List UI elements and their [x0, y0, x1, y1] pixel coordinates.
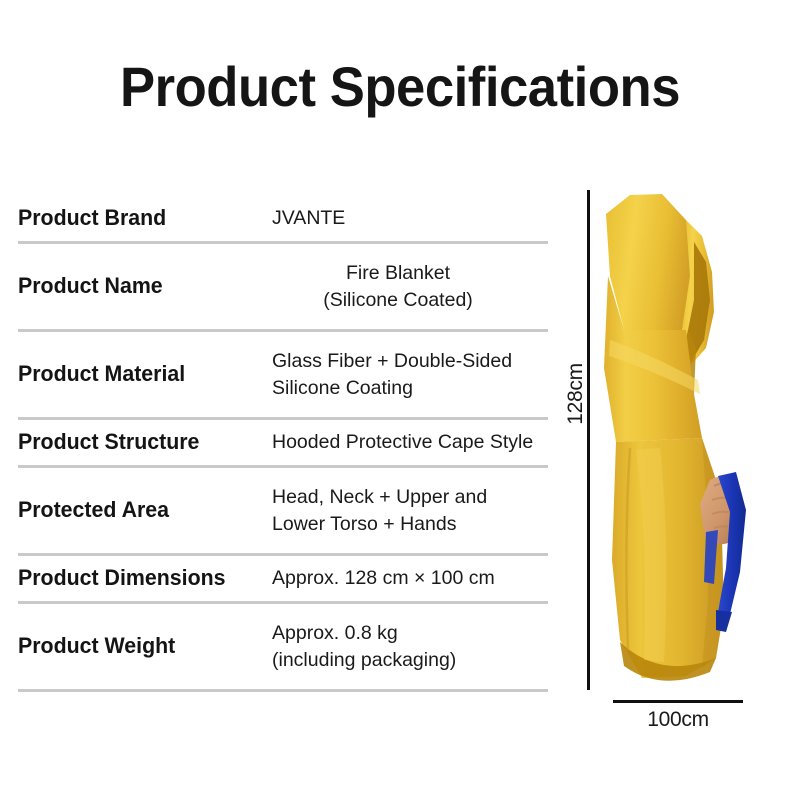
table-row: Product Brand JVANTE [18, 196, 548, 244]
spec-value: Glass Fiber + Double-SidedSilicone Coati… [270, 348, 548, 401]
width-dimension-line [613, 700, 743, 703]
spec-label: Product Dimensions [18, 565, 262, 592]
fire-blanket-cape-photo [590, 180, 800, 700]
table-row: Product Structure Hooded Protective Cape… [18, 420, 548, 468]
spec-table: Product Brand JVANTE Product Name Fire B… [18, 196, 548, 692]
spec-label: Product Structure [18, 429, 262, 456]
product-specifications-page: Product Specifications Product Brand JVA… [0, 0, 800, 800]
spec-label: Product Material [18, 361, 262, 388]
spec-value: JVANTE [270, 205, 548, 232]
spec-value: Hooded Protective Cape Style [270, 429, 548, 456]
table-row: Product Dimensions Approx. 128 cm × 100 … [18, 556, 548, 604]
width-dimension-label: 100cm [608, 708, 748, 732]
table-row: Product Name Fire Blanket(Silicone Coate… [18, 244, 548, 332]
spec-label: Product Name [18, 273, 262, 300]
table-row: Product Weight Approx. 0.8 kg(including … [18, 604, 548, 692]
spec-value: Fire Blanket(Silicone Coated) [270, 260, 548, 313]
page-title: Product Specifications [24, 54, 776, 119]
table-row: Product Material Glass Fiber + Double-Si… [18, 332, 548, 420]
height-dimension-label: 128cm [564, 349, 588, 439]
spec-value: Approx. 0.8 kg(including packaging) [270, 620, 548, 673]
spec-label: Protected Area [18, 497, 262, 524]
spec-label: Product Weight [18, 633, 262, 660]
spec-value: Head, Neck + Upper andLower Torso + Hand… [270, 484, 548, 537]
spec-value: Approx. 128 cm × 100 cm [270, 565, 548, 592]
spec-label: Product Brand [18, 205, 262, 232]
table-row: Protected Area Head, Neck + Upper andLow… [18, 468, 548, 556]
product-figure: 128cm 100cm [560, 150, 800, 750]
